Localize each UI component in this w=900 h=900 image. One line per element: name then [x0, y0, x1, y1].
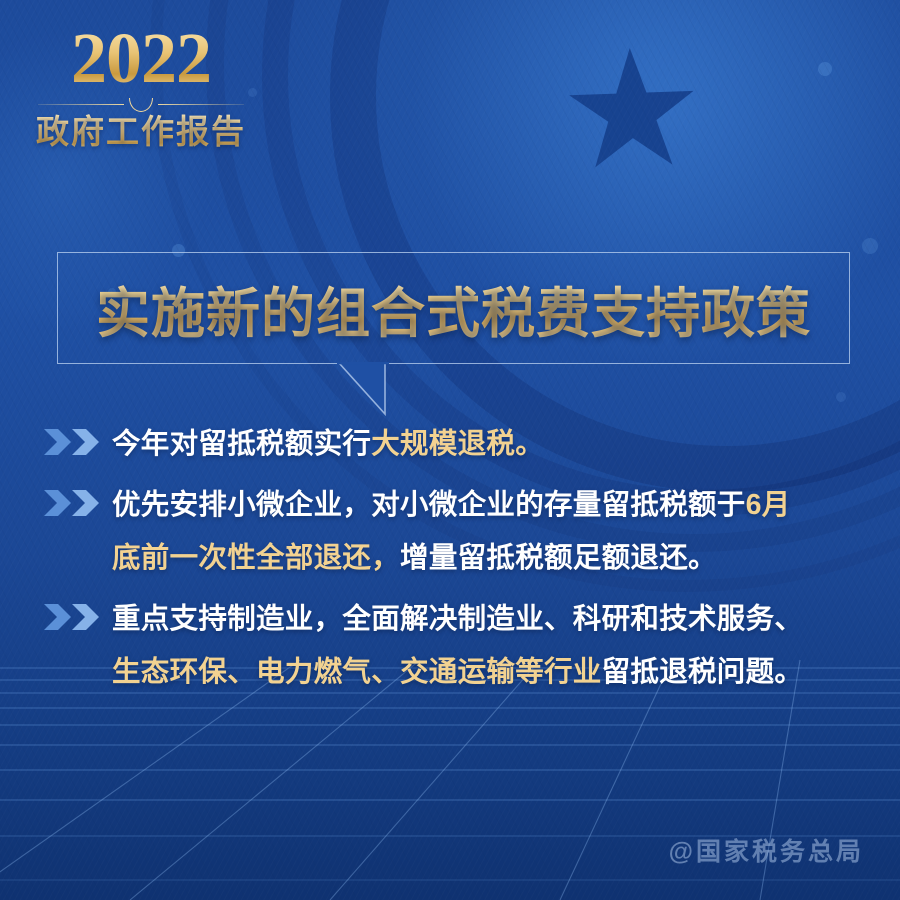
text-run: 大规模退税。: [371, 428, 544, 460]
background-speck: [836, 392, 846, 402]
text-run: 留抵退税问题。: [602, 656, 804, 688]
five-point-star-icon: [566, 46, 698, 178]
report-logo: 2022 政府工作报告: [36, 22, 246, 151]
page-title: 实施新的组合式税费支持政策: [96, 269, 811, 348]
text-line: 优先安排小微企业，对小微企业的存量留抵税额于6月: [112, 479, 874, 532]
text-line: 今年对留抵税额实行大规模退税。: [112, 418, 874, 471]
poster-canvas: 2022 政府工作报告 实施新的组合式税费支持政策: [0, 0, 900, 900]
bullet-list: 今年对留抵税额实行大规模退税。 优先安排小微企业，对小微企业的存量留抵税额于6月…: [44, 418, 874, 707]
text-run: 6月: [746, 489, 791, 521]
text-line: 底前一次性全部退还，增量留抵税额足额退还。: [112, 532, 874, 585]
background-speck: [818, 62, 832, 76]
double-chevron-right-icon: [44, 429, 104, 455]
logo-subtitle: 政府工作报告: [36, 114, 246, 151]
background-speck: [248, 88, 257, 97]
list-item: 重点支持制造业，全面解决制造业、科研和技术服务、 生态环保、电力燃气、交通运输等…: [44, 593, 874, 699]
text-run: 增量留抵税额足额退还。: [400, 542, 717, 574]
background-speck: [862, 238, 878, 254]
text-run: 重点支持制造业，全面解决制造业、科研和技术服务、: [112, 603, 803, 635]
double-chevron-right-icon: [44, 604, 104, 630]
list-item: 今年对留抵税额实行大规模退税。: [44, 418, 874, 471]
text-line: 生态环保、电力燃气、交通运输等行业留抵退税问题。: [112, 646, 874, 699]
list-item-text: 重点支持制造业，全面解决制造业、科研和技术服务、 生态环保、电力燃气、交通运输等…: [112, 593, 874, 699]
text-run: 底前一次性全部退还，: [112, 542, 400, 574]
list-item-text: 今年对留抵税额实行大规模退税。: [112, 418, 874, 471]
text-line: 重点支持制造业，全面解决制造业、科研和技术服务、: [112, 593, 874, 646]
text-run: 今年对留抵税额实行: [112, 428, 371, 460]
text-run: 生态环保、电力燃气、交通运输等行业: [112, 656, 602, 688]
logo-year: 2022: [36, 22, 246, 94]
speech-bubble-tail-icon: [337, 362, 407, 422]
text-run: 优先安排小微企业，对小微企业的存量留抵税额于: [112, 489, 746, 521]
headline-box: 实施新的组合式税费支持政策: [57, 252, 850, 364]
logo-divider: [36, 98, 246, 112]
list-item: 优先安排小微企业，对小微企业的存量留抵税额于6月 底前一次性全部退还，增量留抵税…: [44, 479, 874, 585]
divider-bar-left: [38, 104, 124, 105]
v-ornament-icon: [129, 98, 153, 112]
divider-bar-right: [158, 104, 244, 105]
headline-container: 实施新的组合式税费支持政策: [57, 252, 850, 364]
double-chevron-right-icon: [44, 490, 104, 516]
watermark: @国家税务总局: [669, 832, 864, 868]
list-item-text: 优先安排小微企业，对小微企业的存量留抵税额于6月 底前一次性全部退还，增量留抵税…: [112, 479, 874, 585]
